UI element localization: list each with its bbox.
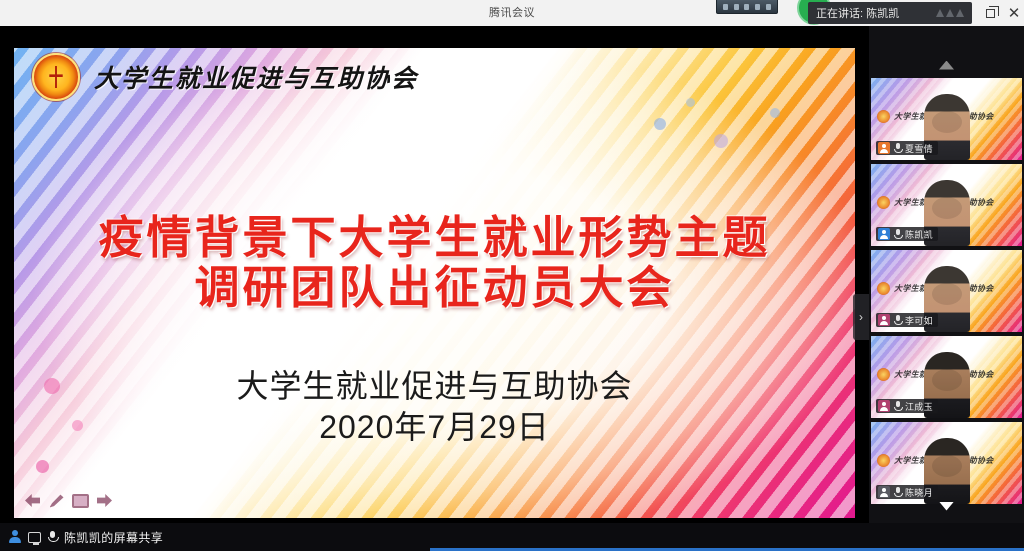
collapse-participants-button[interactable]: › [853,294,869,340]
mini-toolbar-dot [734,4,739,10]
association-logo-icon [877,454,890,467]
mini-toolbar-dot [755,4,760,10]
association-logo-icon [877,282,890,295]
audio-wave-icon [936,9,964,17]
next-slide-button[interactable] [96,493,113,508]
participant-tile[interactable]: 大学生就业促进与互助协会 陈晓月 [871,422,1022,504]
participant-tile[interactable]: 大学生就业促进与互助协会 李可如 [871,250,1022,332]
chevron-up-icon [939,61,954,70]
slide-menu-icon[interactable] [72,493,89,508]
microphone-icon[interactable] [893,143,902,153]
participant-video-rail[interactable]: 大学生就业促进与互助协会 夏雪倩 大学生就业促进与互助协会 陈凯凯 大学生就业促… [869,26,1024,523]
participant-tile[interactable]: 大学生就业促进与互助协会 夏雪倩 [871,78,1022,160]
avatar [878,400,890,412]
meeting-mini-toolbar[interactable] [716,0,778,14]
previous-slide-button[interactable] [24,493,41,508]
chevron-down-icon [939,502,954,511]
mini-toolbar-dot [723,4,728,10]
participant-name-bar: 夏雪倩 [876,141,938,155]
decor-dot [654,118,666,130]
decor-dot [714,134,728,148]
presenter-nav-controls[interactable] [24,493,113,508]
decor-dot [36,460,49,473]
decor-dot [770,108,780,118]
slide-title-line-1: 疫情背景下大学生就业形势主题 [14,213,855,263]
pen-tool-icon[interactable] [48,493,65,508]
slide-header: 大学生就业促进与互助协会 [14,48,855,106]
slide-subtitle-org: 大学生就业促进与互助协会 [14,366,855,407]
rail-scroll-down-button[interactable] [869,497,1024,515]
microphone-icon[interactable] [893,401,902,411]
slide-subtitle-date: 2020年7月29日 [14,407,855,448]
window-title-bar: 腾讯会议 20 正在讲话: 陈凯凯 ✕ [0,0,1024,26]
participant-name-bar: 李可如 [876,313,938,327]
microphone-icon[interactable] [893,315,902,325]
participant-name-bar: 陈凯凯 [876,227,938,241]
status-bar: 陈凯凯的屏幕共享 [0,523,1024,551]
microphone-icon[interactable] [893,487,902,497]
association-logo-icon [877,196,890,209]
chevron-right-icon: › [859,310,863,324]
participant-tile[interactable]: 大学生就业促进与互助协会 陈凯凯 [871,164,1022,246]
microphone-icon[interactable] [47,531,58,544]
close-icon: ✕ [1008,4,1021,22]
close-window-button[interactable]: ✕ [1002,2,1024,24]
participant-name: 李可如 [905,314,933,327]
restore-icon [986,9,995,18]
slide-title-line-2: 调研团队出征动员大会 [14,263,855,313]
rail-scroll-up-button[interactable] [869,56,1024,74]
microphone-icon[interactable] [893,229,902,239]
active-speaker-label: 正在讲话: 陈凯凯 [816,5,899,21]
screen-share-label: 陈凯凯的屏幕共享 [64,529,163,546]
participant-name: 夏雪倩 [905,142,933,155]
participant-tile[interactable]: 大学生就业促进与互助协会 江成玉 [871,336,1022,418]
active-speaker-bar[interactable]: 正在讲话: 陈凯凯 [808,2,972,24]
avatar [878,142,890,154]
avatar [878,314,890,326]
association-logo-icon [877,368,890,381]
association-logo-icon [877,110,890,123]
slide-header-title: 大学生就业促进与互助协会 [94,59,418,95]
shared-screen-area[interactable]: 大学生就业促进与互助协会 疫情背景下大学生就业形势主题 调研团队出征动员大会 大… [0,26,869,523]
person-icon [8,530,22,544]
avatar [878,228,890,240]
slide-subtitle: 大学生就业促进与互助协会 2020年7月29日 [14,366,855,448]
participant-name-bar: 江成玉 [876,399,938,413]
slide-main-title: 疫情背景下大学生就业形势主题 调研团队出征动员大会 [14,213,855,314]
association-logo-icon [32,53,80,101]
mini-toolbar-dot [744,4,749,10]
screen-share-icon [28,532,41,543]
restore-window-button[interactable] [978,2,1002,24]
presentation-slide: 大学生就业促进与互助协会 疫情背景下大学生就业形势主题 调研团队出征动员大会 大… [14,48,855,518]
mini-toolbar-dot [766,4,771,10]
participant-name: 江成玉 [905,400,933,413]
participant-name: 陈凯凯 [905,228,933,241]
